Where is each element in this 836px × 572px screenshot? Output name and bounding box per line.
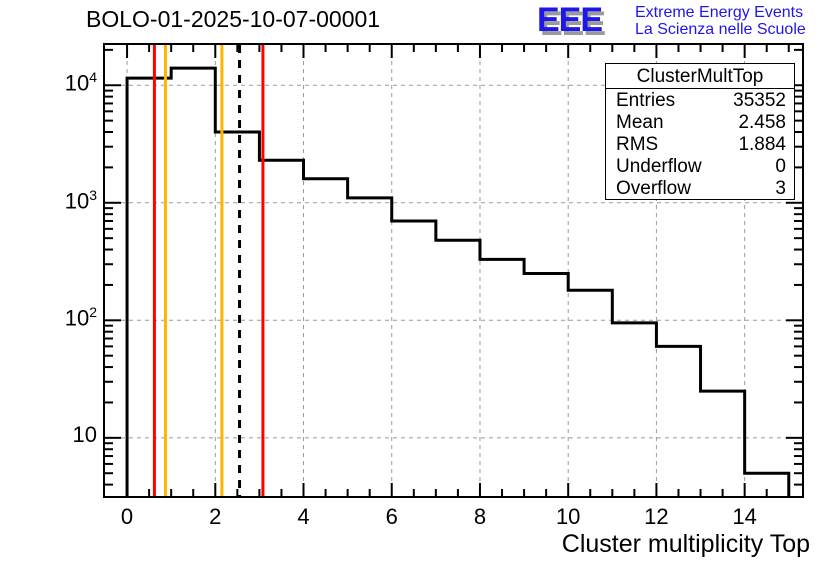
y-tick-label: 104: [65, 69, 97, 96]
stats-row: RMS1.884: [606, 134, 794, 156]
stats-key: RMS: [616, 134, 658, 156]
stats-row: Overflow3: [606, 178, 794, 200]
x-tick-label: 14: [720, 504, 770, 530]
stats-value: 0: [775, 156, 786, 178]
stats-value: 2.458: [738, 112, 786, 134]
stats-value: 35352: [733, 90, 786, 112]
x-axis-title: Cluster multiplicity Top: [562, 530, 810, 559]
x-tick-label: 10: [543, 504, 593, 530]
stats-value: 1.884: [738, 134, 786, 156]
stats-rows: Entries35352Mean2.458RMS1.884Underflow0O…: [606, 90, 794, 200]
x-tick-label: 2: [190, 504, 240, 530]
stats-key: Mean: [616, 112, 664, 134]
stats-key: Entries: [616, 90, 675, 112]
stats-box: ClusterMultTop Entries35352Mean2.458RMS1…: [605, 63, 795, 200]
x-tick-label: 0: [102, 504, 152, 530]
stats-key: Overflow: [616, 178, 691, 200]
y-tick-label: 103: [65, 187, 97, 214]
stats-key: Underflow: [616, 156, 702, 178]
stats-row: Entries35352: [606, 90, 794, 112]
root-canvas: BOLO-01-2025-10-07-00001 EEE EEE Extreme…: [0, 0, 836, 572]
y-tick-label: 10: [73, 422, 97, 448]
x-tick-label: 8: [455, 504, 505, 530]
x-tick-label: 12: [631, 504, 681, 530]
stats-title: ClusterMultTop: [606, 64, 794, 89]
y-tick-label: 102: [65, 304, 97, 331]
stats-row: Mean2.458: [606, 112, 794, 134]
stats-value: 3: [775, 178, 786, 200]
x-tick-label: 6: [367, 504, 417, 530]
stats-row: Underflow0: [606, 156, 794, 178]
marker-lines: [154, 45, 263, 496]
x-tick-label: 4: [279, 504, 329, 530]
